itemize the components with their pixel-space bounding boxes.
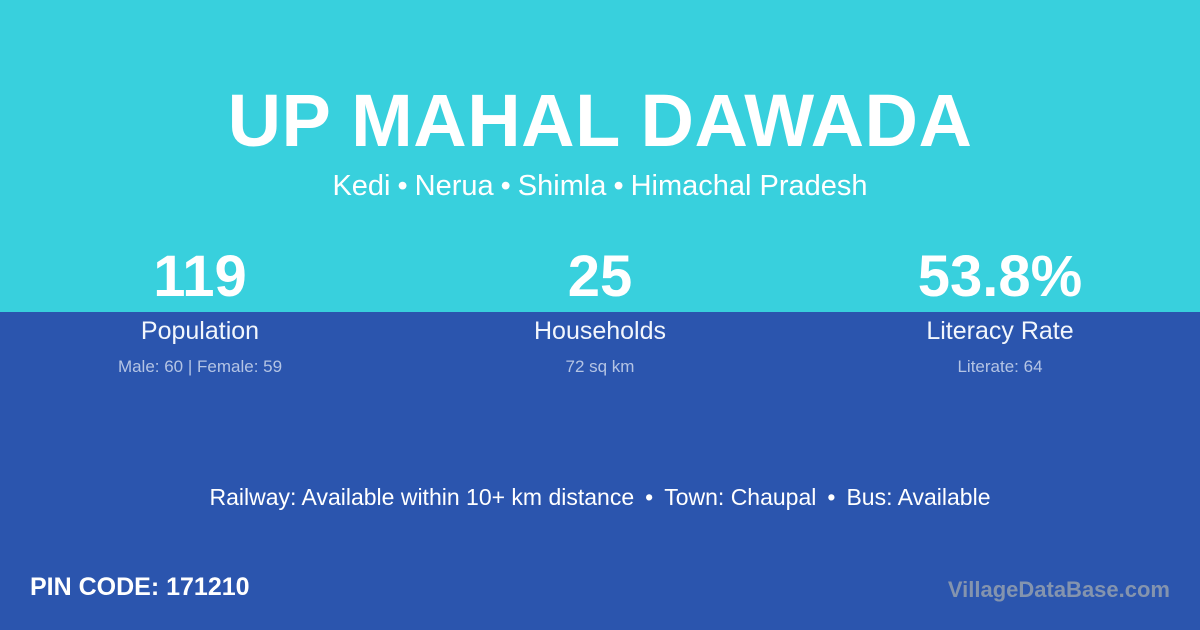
location-breadcrumb: Kedi•Nerua•Shimla•Himachal Pradesh bbox=[0, 172, 1200, 201]
location-part-block: Kedi bbox=[332, 170, 390, 202]
location-part-tehsil: Nerua bbox=[415, 170, 494, 202]
stat-population: 119 Population Male: 60 | Female: 59 bbox=[0, 248, 400, 375]
stat-label: Literacy Rate bbox=[800, 319, 1200, 344]
village-title: UP MAHAL DAWADA bbox=[0, 84, 1200, 158]
facility-railway: Railway: Available within 10+ km distanc… bbox=[209, 484, 634, 510]
location-part-state: Himachal Pradesh bbox=[631, 170, 868, 202]
facility-bus: Bus: Available bbox=[846, 484, 990, 510]
stat-households: 25 Households 72 sq km bbox=[400, 248, 800, 375]
stat-label: Population bbox=[0, 319, 400, 344]
stat-value: 119 bbox=[0, 248, 400, 310]
facility-town: Town: Chaupal bbox=[664, 484, 816, 510]
site-watermark: VillageDataBase.com bbox=[948, 579, 1170, 601]
stats-row: 119 Population Male: 60 | Female: 59 25 … bbox=[0, 248, 1200, 375]
facilities-row: Railway: Available within 10+ km distanc… bbox=[0, 486, 1200, 509]
bullet-separator-icon: • bbox=[494, 170, 518, 202]
stat-value: 53.8% bbox=[800, 248, 1200, 310]
stat-value: 25 bbox=[400, 248, 800, 310]
bullet-separator-icon: • bbox=[634, 484, 664, 510]
stat-sublabel: Male: 60 | Female: 59 bbox=[0, 358, 400, 375]
stat-literacy-rate: 53.8% Literacy Rate Literate: 64 bbox=[800, 248, 1200, 375]
village-info-card: UP MAHAL DAWADA Kedi•Nerua•Shimla•Himach… bbox=[0, 0, 1200, 630]
location-part-district: Shimla bbox=[518, 170, 607, 202]
card-footer: PIN CODE: 171210 VillageDataBase.com bbox=[0, 575, 1200, 615]
bullet-separator-icon: • bbox=[390, 170, 414, 202]
stat-label: Households bbox=[400, 319, 800, 344]
bullet-separator-icon: • bbox=[606, 170, 630, 202]
bullet-separator-icon: • bbox=[816, 484, 846, 510]
pin-code: PIN CODE: 171210 bbox=[30, 575, 250, 600]
stat-sublabel: Literate: 64 bbox=[800, 358, 1200, 375]
stat-sublabel: 72 sq km bbox=[400, 358, 800, 375]
card-header: UP MAHAL DAWADA Kedi•Nerua•Shimla•Himach… bbox=[0, 0, 1200, 201]
